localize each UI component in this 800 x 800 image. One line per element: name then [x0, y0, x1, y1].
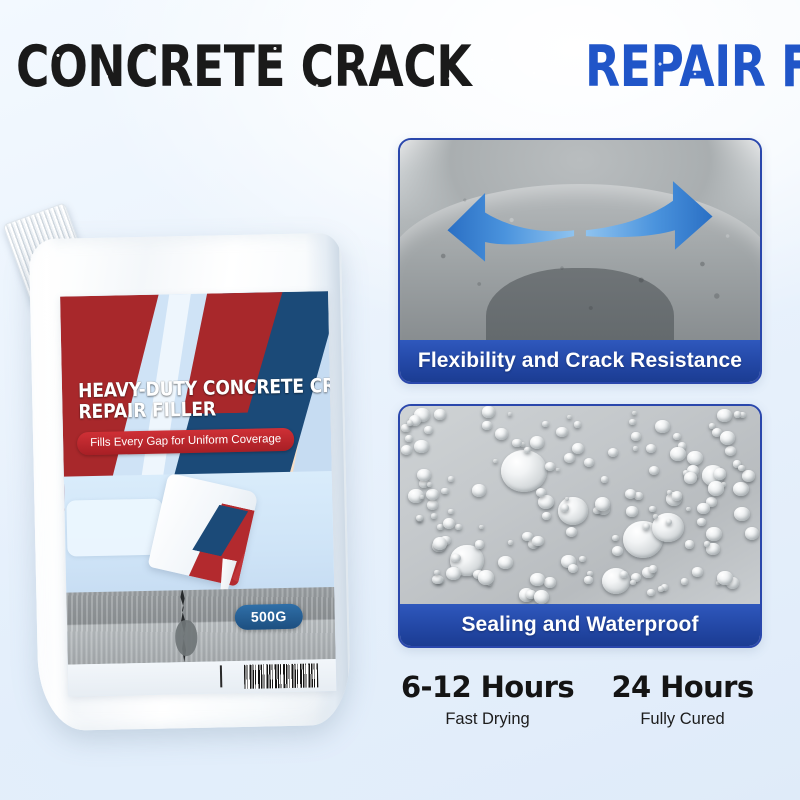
water-droplet	[432, 575, 443, 585]
water-droplet	[427, 482, 432, 486]
label-tagline-banner: Fills Every Gap for Uniform Coverage	[77, 428, 295, 456]
water-droplet	[612, 546, 624, 556]
water-droplet	[742, 470, 755, 482]
water-droplet	[612, 535, 619, 541]
water-droplet	[522, 532, 532, 541]
water-droplet	[534, 590, 550, 604]
water-droplet	[441, 488, 448, 495]
feature-image-water	[400, 406, 760, 604]
water-droplet	[629, 419, 636, 425]
water-droplet	[501, 450, 547, 492]
stat-label-fully-cured: Fully Cured	[585, 706, 780, 732]
water-droplet	[416, 515, 423, 521]
water-droplet	[448, 476, 454, 482]
water-droplet	[448, 509, 454, 515]
water-droplet	[672, 491, 682, 500]
water-droplet	[567, 415, 572, 419]
water-droplet	[734, 411, 742, 418]
water-droplet	[717, 571, 733, 585]
water-droplet	[524, 447, 531, 453]
water-droplet	[666, 519, 672, 524]
water-droplet	[479, 525, 484, 530]
water-droplet	[697, 503, 709, 514]
water-droplet	[655, 420, 670, 434]
water-droplet	[643, 523, 650, 529]
stat-label-fast-drying: Fast Drying	[390, 706, 585, 732]
water-droplet	[451, 554, 460, 562]
label-application-illustration	[64, 471, 335, 603]
label-filler-blob	[175, 620, 198, 656]
water-droplet	[717, 409, 732, 422]
water-droplet	[579, 556, 586, 562]
feature-card-waterproof: Sealing and Waterproof	[398, 404, 762, 648]
water-droplet	[630, 580, 636, 586]
product-label: HEAVY-DUTY CONCRETE CRACK REPAIR FILLER …	[60, 291, 336, 697]
feature-image-crack	[400, 140, 760, 340]
water-droplet	[498, 556, 513, 570]
water-droplet	[561, 504, 569, 511]
water-droplet	[443, 518, 455, 529]
water-droplet	[508, 412, 513, 416]
water-droplet	[647, 589, 655, 596]
stat-value-fully-cured: 24 Hours	[585, 668, 780, 706]
water-droplet	[584, 576, 592, 583]
water-droplet	[433, 537, 447, 550]
water-droplet	[431, 513, 437, 518]
feature-card-flexibility: Flexibility and Crack Resistance	[398, 138, 762, 384]
water-droplet	[478, 570, 494, 584]
water-droplet	[434, 409, 446, 420]
pouch-body: HEAVY-DUTY CONCRETE CRACK REPAIR FILLER …	[29, 233, 351, 731]
barcode	[244, 663, 318, 689]
water-droplet	[706, 527, 721, 541]
water-droplet	[608, 448, 618, 457]
stat-value-fast-drying: 6-12 Hours	[390, 668, 585, 706]
water-droplet	[649, 565, 657, 572]
water-droplet	[684, 472, 697, 484]
water-droplet	[625, 489, 636, 499]
stats-row: 6-12 Hours Fast Drying 24 Hours Fully Cu…	[390, 668, 780, 760]
label-callout-bubble	[66, 499, 163, 557]
concrete-texture	[400, 140, 760, 340]
water-droplet	[545, 462, 555, 471]
water-droplet	[708, 481, 724, 495]
weight-badge: 500G	[235, 604, 303, 630]
water-droplet	[556, 427, 568, 437]
stat-fully-cured: 24 Hours Fully Cured	[585, 668, 780, 760]
water-droplet	[566, 527, 577, 537]
water-droplet	[446, 567, 461, 580]
label-mini-pouch-icon	[148, 473, 259, 587]
page-title: CONCRETE CRACK REPAIR FILLER	[16, 34, 786, 100]
water-droplet	[697, 518, 706, 526]
water-droplet	[420, 495, 424, 499]
water-droplet	[670, 447, 686, 461]
water-droplet	[692, 567, 703, 577]
water-droplet	[626, 506, 638, 516]
water-droplet	[646, 444, 657, 454]
label-product-name: HEAVY-DUTY CONCRETE CRACK REPAIR FILLER	[78, 376, 295, 423]
promo-page: CONCRETE CRACK REPAIR FILLER HEA	[0, 0, 800, 800]
water-droplet	[653, 514, 658, 518]
water-droplet	[574, 421, 581, 427]
water-droplet	[725, 446, 736, 456]
water-droplet	[658, 586, 664, 592]
water-droplet	[401, 445, 412, 455]
water-droplet	[745, 527, 759, 540]
water-droplet	[704, 541, 710, 546]
water-droplet	[714, 468, 726, 479]
feature-caption-waterproof: Sealing and Waterproof	[400, 604, 760, 646]
water-droplet	[595, 497, 610, 511]
water-droplet	[601, 476, 608, 482]
water-droplet	[720, 431, 735, 444]
water-droplet	[673, 433, 681, 440]
water-droplet	[482, 406, 495, 417]
water-droplet	[482, 421, 491, 430]
water-droplet	[649, 466, 659, 475]
water-droplet	[414, 440, 429, 454]
water-droplet	[542, 512, 551, 521]
water-droplet	[455, 524, 462, 530]
water-droplet	[493, 459, 498, 464]
water-droplet	[572, 443, 584, 454]
water-droplet	[495, 428, 508, 440]
water-droplet	[544, 577, 556, 588]
water-droplet	[686, 507, 691, 511]
water-droplet	[568, 564, 578, 573]
water-droplet	[530, 573, 545, 586]
water-droplet	[584, 458, 594, 467]
stat-fast-drying: 6-12 Hours Fast Drying	[390, 668, 585, 760]
water-droplet	[426, 489, 439, 501]
water-droplet	[556, 468, 560, 472]
water-droplet	[734, 507, 749, 521]
water-droplet	[681, 578, 688, 584]
water-droplet	[733, 482, 749, 496]
water-droplet	[633, 446, 638, 451]
water-droplet	[532, 536, 544, 547]
water-droplet	[512, 439, 522, 448]
water-droplet	[565, 497, 570, 501]
water-droplet	[424, 426, 433, 434]
water-droplet	[472, 484, 486, 496]
product-package: HEAVY-DUTY CONCRETE CRACK REPAIR FILLER …	[26, 208, 356, 733]
water-droplet	[649, 506, 655, 512]
feature-caption-flexibility: Flexibility and Crack Resistance	[400, 340, 760, 382]
water-droplet	[530, 436, 544, 449]
water-droplet	[687, 451, 703, 465]
water-droplet	[508, 540, 513, 545]
water-droplet	[405, 435, 413, 442]
page-title-accent: REPAIR FILLER	[585, 38, 800, 96]
page-title-primary: CONCRETE CRACK	[16, 38, 471, 96]
water-droplet	[417, 469, 430, 481]
water-droplet	[564, 453, 575, 463]
water-droplet	[427, 500, 438, 510]
water-droplet	[631, 432, 640, 441]
expansion-arrows-icon	[400, 140, 760, 340]
water-droplet	[685, 540, 694, 548]
water-droplets-texture	[400, 406, 760, 604]
water-droplet	[542, 421, 549, 427]
water-droplet	[475, 540, 484, 548]
water-droplet	[632, 411, 637, 415]
